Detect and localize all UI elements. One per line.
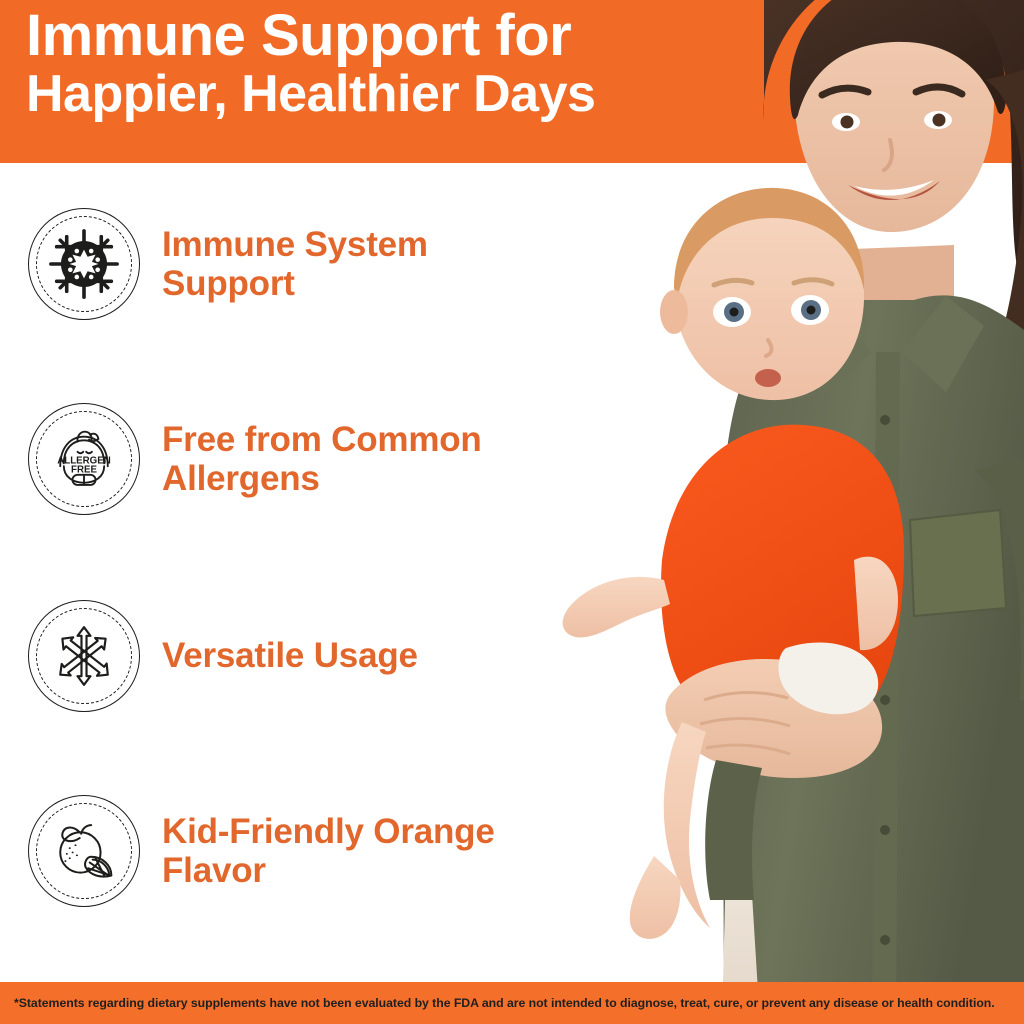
feature-label-free-from-common-allergens: Free from Common Allergens bbox=[162, 420, 482, 498]
feature-label-versatile-usage: Versatile Usage bbox=[162, 636, 418, 675]
feature-label-line-2: Flavor bbox=[162, 851, 266, 890]
feature-item-free-from-common-allergens[interactable]: ALLERGEN FREE Free from Common Allergens bbox=[28, 403, 548, 515]
feature-label-line-1: Kid-Friendly Orange bbox=[162, 812, 495, 851]
mother-holding-baby-photo bbox=[554, 0, 1024, 1024]
feature-item-immune-system-support[interactable]: Immune System Support bbox=[28, 208, 548, 320]
allergen-free-badge-icon: ALLERGEN FREE bbox=[28, 403, 140, 515]
feature-label-line-2: Allergens bbox=[162, 459, 320, 498]
orange-fruit-slice-icon bbox=[28, 795, 140, 907]
feature-label-immune-system-support: Immune System Support bbox=[162, 225, 428, 303]
feature-item-versatile-usage[interactable]: Versatile Usage bbox=[28, 600, 548, 712]
feature-label-kid-friendly-orange-flavor: Kid-Friendly Orange Flavor bbox=[162, 812, 495, 890]
feature-label-line-1: Versatile Usage bbox=[162, 636, 418, 675]
footer-disclaimer-text: *Statements regarding dietary supplement… bbox=[0, 996, 1003, 1010]
multi-direction-arrows-icon bbox=[28, 600, 140, 712]
footer-disclaimer-bar: *Statements regarding dietary supplement… bbox=[0, 982, 1024, 1024]
immune-support-infographic: Immune Support for Happier, Healthier Da… bbox=[0, 0, 1024, 1024]
feature-label-line-1: Free from Common bbox=[162, 420, 482, 459]
feature-label-line-2: Support bbox=[162, 264, 295, 303]
virus-cell-icon bbox=[28, 208, 140, 320]
feature-label-line-1: Immune System bbox=[162, 225, 428, 264]
feature-item-kid-friendly-orange-flavor[interactable]: Kid-Friendly Orange Flavor bbox=[28, 795, 548, 907]
page-title-line-2: Happier, Healthier Days bbox=[26, 69, 816, 120]
allergen-free-badge-text-line-1: ALLERGEN bbox=[57, 455, 110, 466]
page-title-line-1: Immune Support for bbox=[26, 8, 816, 65]
photo-illustration bbox=[554, 0, 1024, 1024]
allergen-free-badge-text-line-2: FREE bbox=[71, 465, 97, 476]
page-title: Immune Support for Happier, Healthier Da… bbox=[26, 8, 816, 120]
